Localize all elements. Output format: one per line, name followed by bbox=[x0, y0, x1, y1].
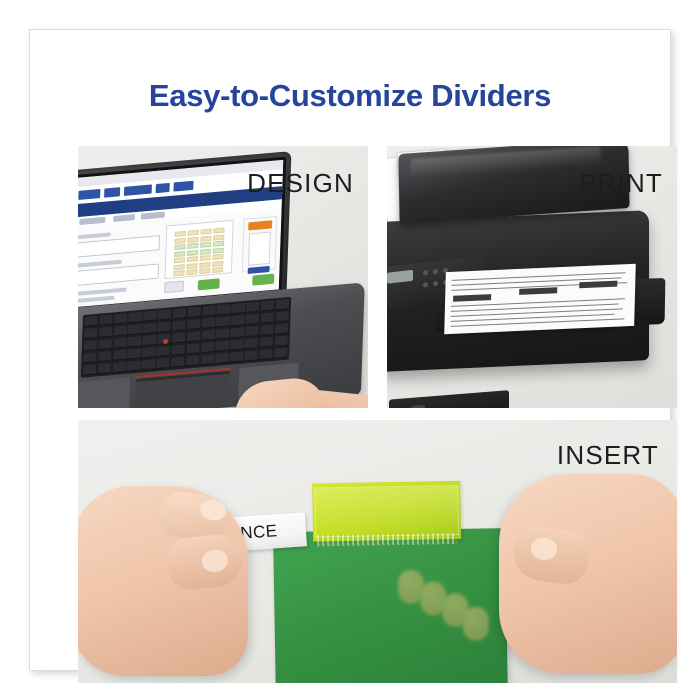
screen-next-button bbox=[252, 274, 274, 286]
screen-form-fields bbox=[78, 228, 160, 306]
product-card: Easy-to-Customize Dividers bbox=[29, 29, 671, 671]
hand-holding-label bbox=[78, 460, 272, 683]
lid-highlight bbox=[411, 146, 601, 179]
printer-illustration bbox=[387, 164, 677, 408]
hand-holding-divider bbox=[475, 454, 677, 683]
printer-memory-slot bbox=[411, 405, 425, 408]
screen-cancel-button bbox=[164, 280, 184, 293]
panel-label-design: DESIGN bbox=[247, 168, 354, 199]
printer-front-base bbox=[389, 390, 509, 408]
panel-insert: FINANCE INSERT bbox=[78, 420, 677, 683]
screen-divider-grid bbox=[164, 220, 233, 280]
panel-label-print: PRINT bbox=[579, 168, 663, 199]
hand-on-keyboard bbox=[228, 374, 368, 408]
screen-preview-pane bbox=[242, 216, 278, 273]
printer-lcd-display bbox=[387, 270, 413, 284]
palm-rest-left bbox=[78, 377, 130, 408]
panel-print: PRINT bbox=[387, 146, 677, 408]
screen-primary-button bbox=[198, 278, 220, 290]
hand-knuckles bbox=[231, 375, 329, 408]
divider-label-pocket bbox=[314, 485, 459, 538]
panel-design: DESIGN bbox=[78, 146, 368, 408]
panel-label-insert: INSERT bbox=[557, 440, 659, 471]
printed-sheet bbox=[444, 264, 636, 334]
product-image: Easy-to-Customize Dividers bbox=[0, 0, 700, 700]
page-title: Easy-to-Customize Dividers bbox=[30, 78, 670, 114]
